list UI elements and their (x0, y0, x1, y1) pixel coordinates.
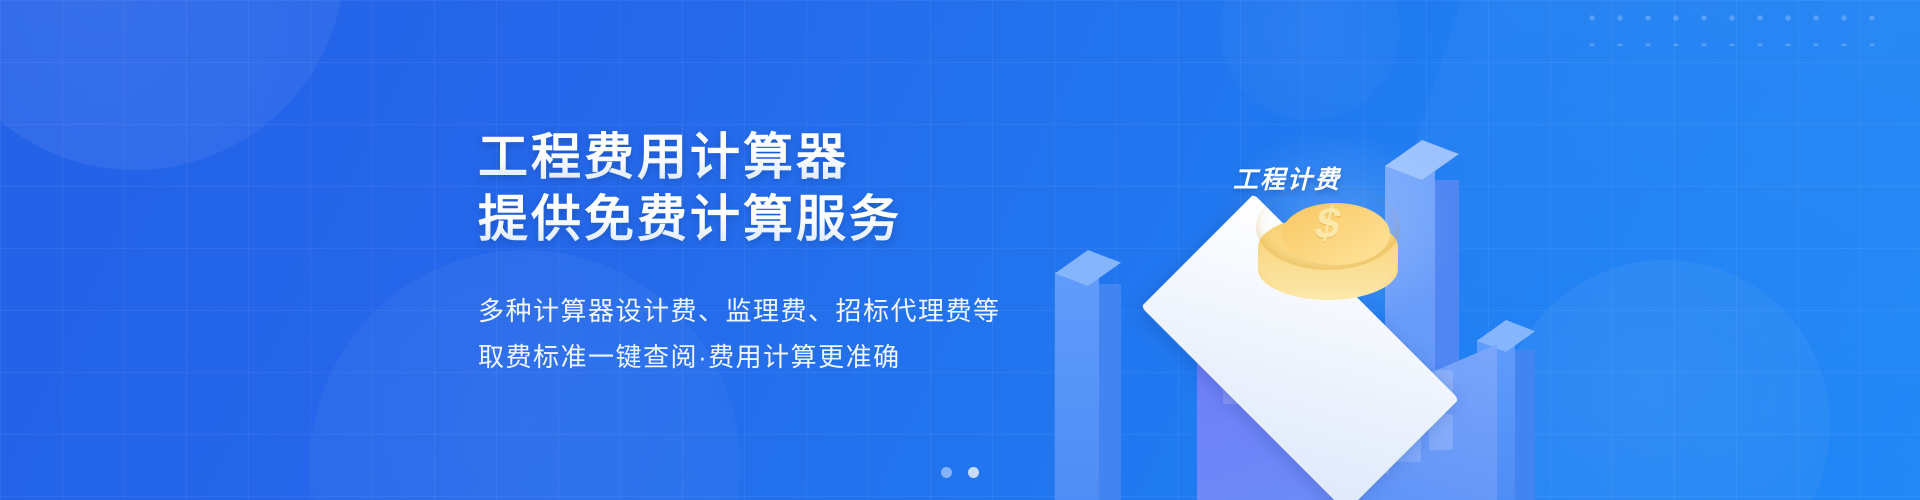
pagination-dot-1[interactable] (941, 467, 952, 478)
subtitle-line-2: 取费标准一键查阅·费用计算更准确 (478, 334, 1001, 380)
coin-stack: $ (1248, 176, 1408, 316)
subtitle-line-1: 多种计算器设计费、监理费、招标代理费等 (478, 288, 1001, 334)
illustration-badge-label: 工程计费 (1233, 160, 1341, 196)
headline-line-2: 提供免费计算服务 (478, 188, 1001, 250)
carousel-pagination[interactable] (941, 467, 979, 478)
dot-grid-pattern (1578, 4, 1878, 46)
hero-banner: 工程费用计算器 提供免费计算服务 多种计算器设计费、监理费、招标代理费等 取费标… (0, 0, 1920, 500)
headline-line-1: 工程费用计算器 (478, 126, 1001, 188)
background-bar-medium (1055, 250, 1121, 500)
illustration: $ 工程计费 (1085, 0, 1605, 500)
coin-top-face: $ (1256, 184, 1400, 270)
banner-copy-block: 工程费用计算器 提供免费计算服务 多种计算器设计费、监理费、招标代理费等 取费标… (478, 126, 1001, 380)
pagination-dot-2[interactable] (968, 467, 979, 478)
